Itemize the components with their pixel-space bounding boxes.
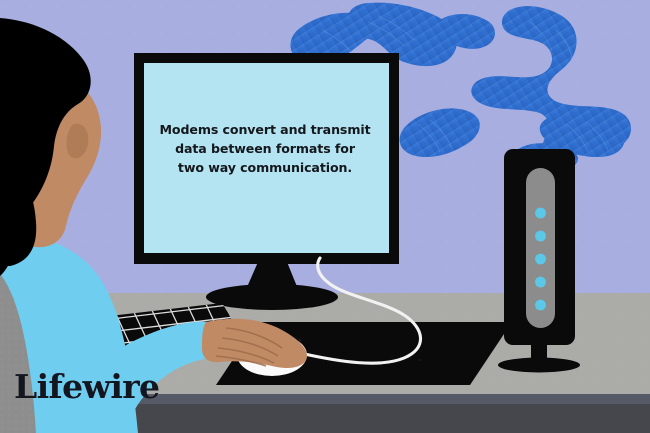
- illustration-canvas: Modems convert and transmit data between…: [0, 0, 650, 433]
- scene-vector: [0, 0, 650, 433]
- modem-led: [535, 277, 546, 288]
- monitor-screen: [144, 63, 389, 253]
- modem-led: [535, 208, 546, 219]
- modem-led: [535, 300, 546, 311]
- cable-modem: [498, 149, 580, 373]
- modem-led: [535, 231, 546, 242]
- modem-led: [535, 254, 546, 265]
